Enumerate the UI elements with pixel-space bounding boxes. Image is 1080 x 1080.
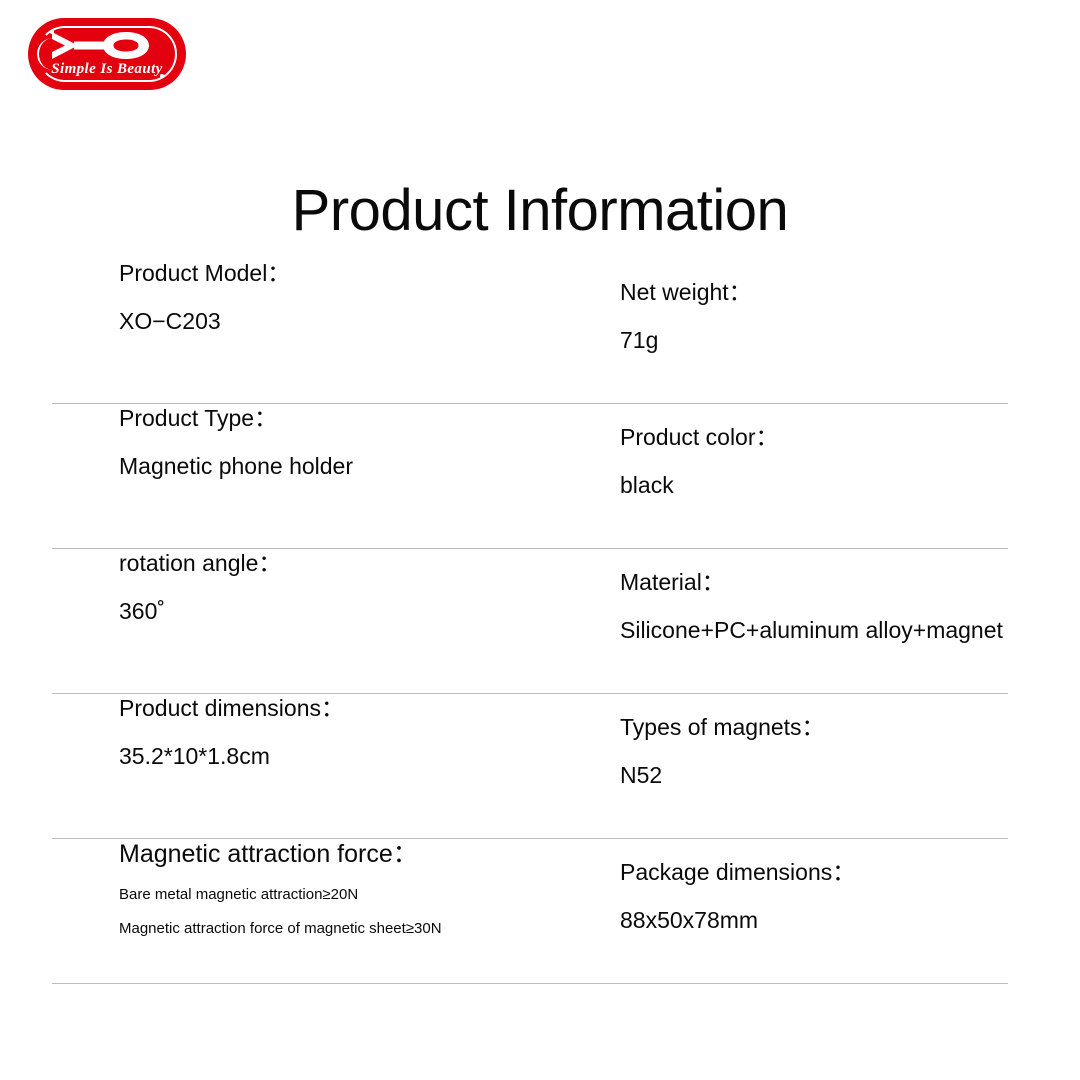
row-divider — [52, 983, 1008, 984]
spec-cell-product-dimensions: Product dimensions： 35.2*10*1.8cm — [119, 693, 609, 771]
page-title: Product Information — [0, 175, 1080, 247]
spec-row: rotation angle： 360˚ Material： Silicone+… — [0, 548, 1080, 693]
spec-cell-package-dimensions: Package dimensions： 88x50x78mm — [620, 838, 1060, 935]
spec-value: Silicone+PC+aluminum alloy+magnet — [620, 615, 1060, 645]
spec-cell-magnetic-attraction-force: Magnetic attraction force： Bare metal ma… — [119, 838, 609, 939]
spec-label: Types of magnets： — [620, 712, 1060, 742]
spec-label: Package dimensions： — [620, 857, 1060, 887]
spec-value: 360˚ — [119, 596, 609, 626]
spec-value: 88x50x78mm — [620, 905, 1060, 935]
spec-cell-material: Material： Silicone+PC+aluminum alloy+mag… — [620, 548, 1060, 645]
spec-cell-product-color: Product color： black — [620, 403, 1060, 500]
spec-value: black — [620, 470, 1060, 500]
spec-label: Material： — [620, 567, 1060, 597]
spec-value: 35.2*10*1.8cm — [119, 741, 609, 771]
spec-cell-net-weight: Net weight： 71g — [620, 258, 1060, 355]
spec-label: Net weight： — [620, 277, 1060, 307]
spec-label: rotation angle： — [119, 548, 609, 578]
spec-cell-types-of-magnets: Types of magnets： N52 — [620, 693, 1060, 790]
spec-row: Product Type： Magnetic phone holder Prod… — [0, 403, 1080, 548]
spec-label: Product Model： — [119, 258, 609, 288]
spec-note-magnetic-sheet: Magnetic attraction force of magnetic sh… — [119, 919, 609, 939]
spec-value: N52 — [620, 760, 1060, 790]
spec-value: 71g — [620, 325, 1060, 355]
spec-cell-product-type: Product Type： Magnetic phone holder — [119, 403, 609, 481]
spec-label: Product Type： — [119, 403, 609, 433]
spec-label: Product color： — [620, 422, 1060, 452]
spec-value: Magnetic phone holder — [119, 451, 609, 481]
spec-note-bare-metal: Bare metal magnetic attraction≥20N — [119, 885, 609, 905]
spec-value: XO−C203 — [119, 306, 609, 336]
spec-row: Product dimensions： 35.2*10*1.8cm Types … — [0, 693, 1080, 838]
xo-wordmark-icon — [28, 29, 186, 62]
spec-row: Magnetic attraction force： Bare metal ma… — [0, 838, 1080, 983]
spec-cell-product-model: Product Model： XO−C203 — [119, 258, 609, 336]
spec-row: Product Model： XO−C203 Net weight： 71g — [0, 258, 1080, 403]
spec-cell-rotation-angle: rotation angle： 360˚ — [119, 548, 609, 626]
product-specs-table: Product Model： XO−C203 Net weight： 71g P… — [0, 258, 1080, 983]
spec-label: Product dimensions： — [119, 693, 609, 723]
logo-tagline: Simple Is Beauty — [28, 60, 186, 78]
spec-label: Magnetic attraction force： — [119, 838, 609, 870]
brand-logo: Simple Is Beauty — [28, 18, 186, 90]
